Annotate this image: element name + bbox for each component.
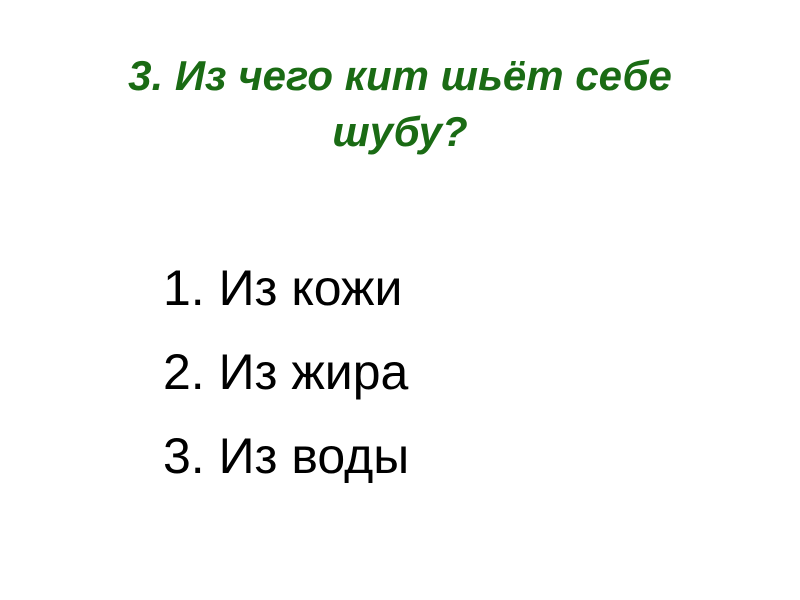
answer-option-1-number: 1. bbox=[163, 260, 205, 316]
answer-option-1-label: Из кожи bbox=[219, 260, 403, 316]
answer-option-3-label: Из воды bbox=[219, 428, 410, 484]
answer-option-2-label: Из жира bbox=[219, 344, 409, 400]
slide-canvas: 3. Из чего кит шьёт себе шубу? 1. Из кож… bbox=[0, 0, 800, 600]
answer-options-list: 1. Из кожи 2. Из жира 3. Из воды bbox=[163, 246, 723, 498]
answer-option-2-number: 2. bbox=[163, 344, 205, 400]
answer-option-3-number: 3. bbox=[163, 428, 205, 484]
question-title: 3. Из чего кит шьёт себе шубу? bbox=[60, 48, 740, 160]
answer-option-3[interactable]: 3. Из воды bbox=[163, 414, 723, 498]
answer-option-1[interactable]: 1. Из кожи bbox=[163, 246, 723, 330]
answer-option-2[interactable]: 2. Из жира bbox=[163, 330, 723, 414]
